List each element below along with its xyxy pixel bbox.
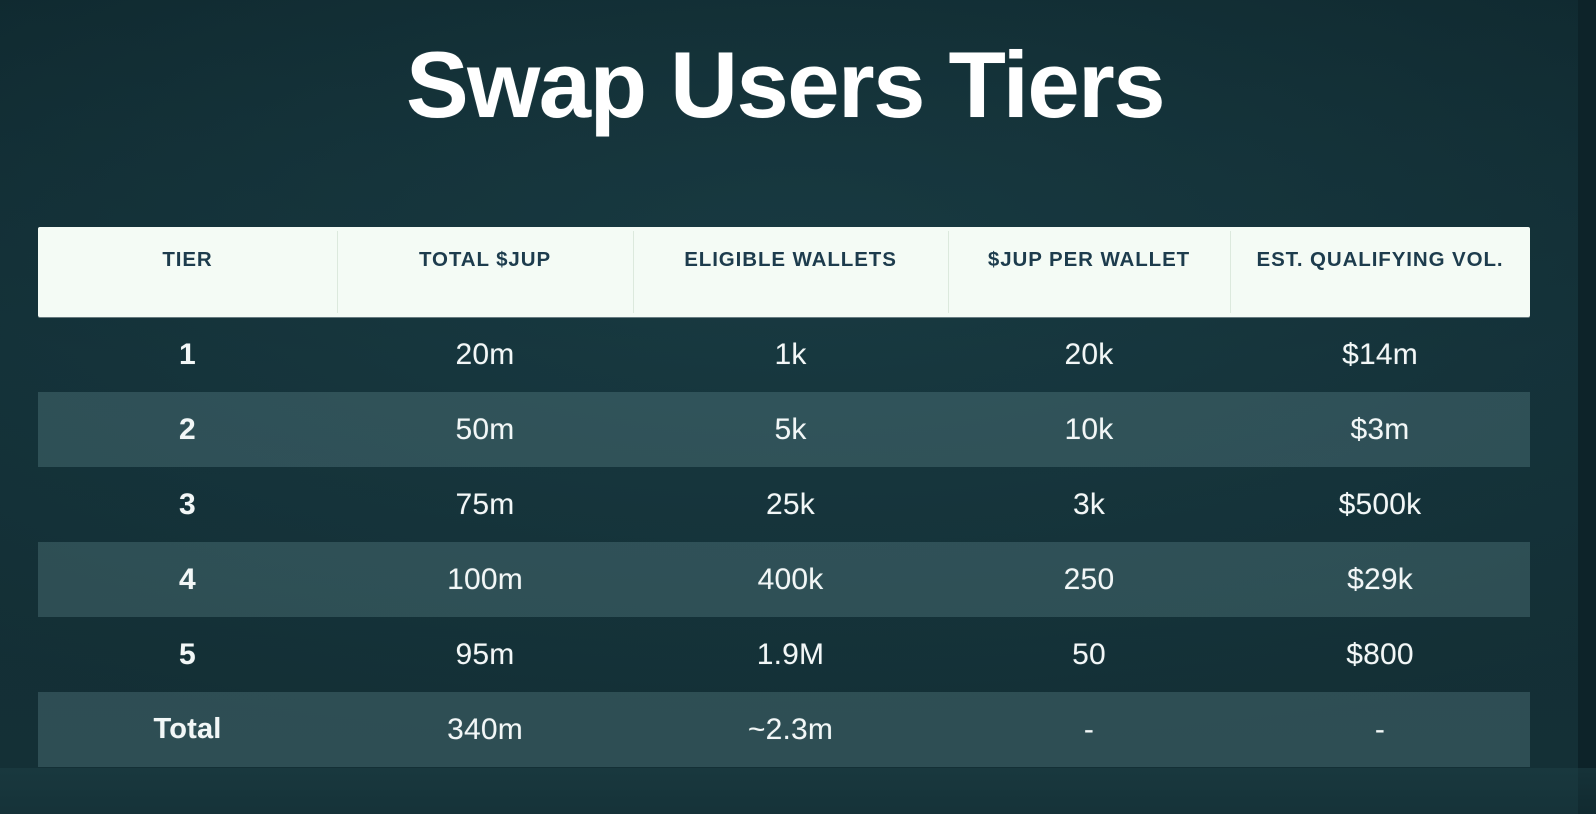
cell-est-qualifying-vol: $800 (1230, 617, 1530, 692)
cell-jup-per-wallet: 10k (948, 392, 1230, 467)
cell-est-qualifying-vol: - (1230, 692, 1530, 767)
cell-total-jup: 340m (337, 692, 633, 767)
cell-est-qualifying-vol: $500k (1230, 467, 1530, 542)
cell-eligible-wallets: 5k (633, 392, 948, 467)
column-header-jup-per-wallet: $JUP PER WALLET (948, 227, 1230, 317)
cell-jup-per-wallet: 20k (948, 317, 1230, 392)
table-total-row: Total 340m ~2.3m - - (38, 692, 1530, 767)
cell-est-qualifying-vol: $3m (1230, 392, 1530, 467)
swap-users-tiers-table: TIER TOTAL $JUP ELIGIBLE WALLETS $JUP PE… (38, 227, 1530, 767)
table-row: 3 75m 25k 3k $500k (38, 467, 1530, 542)
cell-jup-per-wallet: 3k (948, 467, 1230, 542)
cell-total-jup: 95m (337, 617, 633, 692)
column-header-eligible-wallets: ELIGIBLE WALLETS (633, 227, 948, 317)
cell-eligible-wallets: 25k (633, 467, 948, 542)
table-row: 1 20m 1k 20k $14m (38, 317, 1530, 392)
background-bottom-band (0, 768, 1596, 814)
table-row: 5 95m 1.9M 50 $800 (38, 617, 1530, 692)
cell-total-jup: 20m (337, 317, 633, 392)
cell-jup-per-wallet: 250 (948, 542, 1230, 617)
cell-tier: 4 (38, 542, 337, 617)
cell-est-qualifying-vol: $14m (1230, 317, 1530, 392)
column-header-total-jup: TOTAL $JUP (337, 227, 633, 317)
background-right-edge (1578, 0, 1596, 814)
cell-total-jup: 100m (337, 542, 633, 617)
slide-root: Swap Users Tiers TIER TOTAL $JUP ELIGIBL… (0, 0, 1596, 814)
table-row: 2 50m 5k 10k $3m (38, 392, 1530, 467)
cell-tier: 1 (38, 317, 337, 392)
cell-tier: 5 (38, 617, 337, 692)
cell-est-qualifying-vol: $29k (1230, 542, 1530, 617)
cell-tier-total: Total (38, 692, 337, 767)
cell-tier: 2 (38, 392, 337, 467)
table-row: 4 100m 400k 250 $29k (38, 542, 1530, 617)
cell-total-jup: 50m (337, 392, 633, 467)
cell-tier: 3 (38, 467, 337, 542)
page-title: Swap Users Tiers (0, 36, 1570, 135)
cell-eligible-wallets: 1k (633, 317, 948, 392)
cell-jup-per-wallet: 50 (948, 617, 1230, 692)
column-header-est-qualifying-vol: EST. QUALIFYING VOL. (1230, 227, 1530, 317)
cell-eligible-wallets: 1.9M (633, 617, 948, 692)
cell-jup-per-wallet: - (948, 692, 1230, 767)
table-header-row: TIER TOTAL $JUP ELIGIBLE WALLETS $JUP PE… (38, 227, 1530, 317)
cell-eligible-wallets: ~2.3m (633, 692, 948, 767)
cell-eligible-wallets: 400k (633, 542, 948, 617)
table-body: 1 20m 1k 20k $14m 2 50m 5k 10k $3m 3 75m… (38, 317, 1530, 767)
cell-total-jup: 75m (337, 467, 633, 542)
column-header-tier: TIER (38, 227, 337, 317)
